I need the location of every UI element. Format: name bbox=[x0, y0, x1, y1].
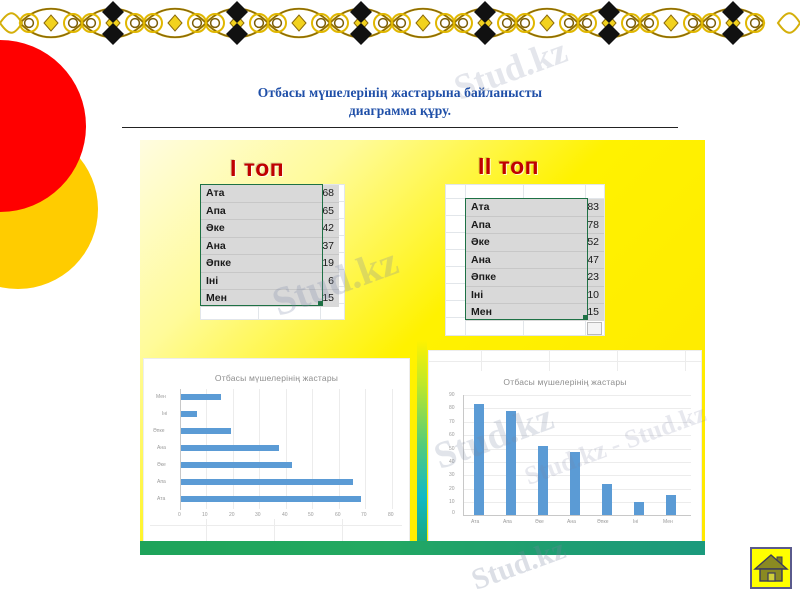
chart-1-gridline bbox=[392, 389, 393, 509]
chart-2-sheet-line bbox=[429, 361, 701, 362]
chart-1-gridline bbox=[365, 389, 366, 509]
table-row[interactable]: Әке 42 bbox=[201, 220, 339, 238]
cell-label[interactable]: Мен bbox=[201, 290, 267, 307]
chart-1-tick-label: 10 bbox=[202, 512, 208, 518]
table-row[interactable]: Ата 83 bbox=[466, 199, 604, 216]
chart-2-tick-label: 30 bbox=[449, 472, 455, 478]
chart-1-frame-line bbox=[274, 519, 275, 541]
chart-2-cat-label: Іні bbox=[633, 519, 638, 525]
cell-value[interactable]: 6 bbox=[267, 272, 339, 290]
table-row[interactable]: Іні 6 bbox=[201, 272, 339, 290]
cell-value[interactable]: 15 bbox=[267, 290, 339, 307]
chart-1-bar[interactable] bbox=[181, 496, 361, 502]
chart-2-bar[interactable] bbox=[538, 446, 548, 515]
cell-value[interactable]: 10 bbox=[532, 286, 604, 304]
cell-value[interactable]: 47 bbox=[532, 251, 604, 269]
cell-label[interactable]: Әпке bbox=[466, 269, 532, 287]
page-title-line-2: диаграмма құру. bbox=[120, 102, 680, 120]
chart-2-tick-label: 10 bbox=[449, 499, 455, 505]
gradient-divider-strip bbox=[417, 340, 427, 541]
table-row[interactable]: Іні 10 bbox=[466, 286, 604, 304]
chart-2-tick-label: 20 bbox=[449, 486, 455, 492]
table-row[interactable]: Ана 37 bbox=[201, 237, 339, 255]
chart-1-cat-label: Ана bbox=[157, 445, 166, 451]
chart-1-tick-label: 80 bbox=[388, 512, 394, 518]
chart-2-cat-label: Ана bbox=[567, 519, 576, 525]
page-title-line-1: Отбасы мүшелерінің жастарына байланысты bbox=[120, 84, 680, 102]
table-row[interactable]: Ана 47 bbox=[466, 251, 604, 269]
chart-1-tick-label: 60 bbox=[335, 512, 341, 518]
cell-value[interactable]: 68 bbox=[267, 185, 339, 202]
chart-2-sheet-line bbox=[549, 351, 550, 371]
chart-1-frame-line bbox=[206, 519, 207, 541]
chart-1-cat-label: Әке bbox=[157, 462, 166, 468]
selection-handle-2[interactable] bbox=[583, 315, 588, 320]
table-row[interactable]: Апа 78 bbox=[466, 216, 604, 234]
chart-2-bar[interactable] bbox=[634, 502, 644, 515]
chart-2-bar[interactable] bbox=[570, 452, 580, 515]
chart-2-gridline bbox=[463, 435, 691, 436]
selection-handle-1[interactable] bbox=[318, 301, 323, 306]
chart-2-tick-label: 90 bbox=[449, 392, 455, 398]
chart-2-sheet-line bbox=[617, 351, 618, 371]
chart-2-gridline bbox=[463, 449, 691, 450]
cell-label[interactable]: Ана bbox=[466, 251, 532, 269]
chart-2-tick-label: 80 bbox=[449, 405, 455, 411]
quick-analysis-button[interactable] bbox=[587, 322, 602, 335]
table-row[interactable]: Апа 65 bbox=[201, 202, 339, 220]
chart-2-cat-label: Апа bbox=[503, 519, 512, 525]
cell-value[interactable]: 83 bbox=[532, 199, 604, 216]
slide-content-panel: I топ II топ Ата 68 А bbox=[140, 140, 705, 555]
chart-1-tick-label: 50 bbox=[308, 512, 314, 518]
cell-value[interactable]: 23 bbox=[532, 269, 604, 287]
cell-value[interactable]: 19 bbox=[267, 255, 339, 273]
table-row[interactable]: Ата 68 bbox=[201, 185, 339, 202]
chart-1-cat-label: Апа bbox=[157, 479, 166, 485]
chart-2-cat-label: Ата bbox=[471, 519, 479, 525]
chart-2-tick-label: 60 bbox=[449, 432, 455, 438]
chart-2-tick-label: 50 bbox=[449, 446, 455, 452]
group-2-heading: II топ bbox=[478, 153, 539, 180]
table-group-1[interactable]: Ата 68 Апа 65 Әке 42 Ана 37 Әпке 19 bbox=[201, 185, 339, 307]
chart-2-gridline bbox=[463, 408, 691, 409]
chart-1-bar[interactable] bbox=[181, 428, 231, 434]
cell-label[interactable]: Әпке bbox=[201, 255, 267, 273]
chart-2-title: Отбасы мүшелерінің жастары bbox=[429, 377, 701, 387]
chart-1-bar[interactable] bbox=[181, 445, 279, 451]
slide-bottom-green-strip bbox=[140, 541, 705, 555]
chart-2-cat-label: Әпке bbox=[597, 519, 609, 525]
spreadsheet-group-1: Ата 68 Апа 65 Әке 42 Ана 37 Әпке 19 bbox=[200, 184, 345, 320]
title-divider-rule bbox=[122, 127, 678, 128]
chart-2-cat-label: Әке bbox=[535, 519, 544, 525]
ornamental-top-border bbox=[0, 0, 800, 47]
chart-2-sheet-line bbox=[481, 351, 482, 371]
chart-2-tick-label: 40 bbox=[449, 459, 455, 465]
table-body-1: Ата 68 Апа 65 Әке 42 Ана 37 Әпке 19 bbox=[201, 185, 339, 307]
cell-label[interactable]: Әке bbox=[201, 220, 267, 238]
cell-label[interactable]: Әке bbox=[466, 234, 532, 252]
table-group-2[interactable]: Ата 83 Апа 78 Әке 52 Ана 47 Әпке 23 bbox=[466, 199, 604, 321]
chart-1-gridline bbox=[286, 389, 287, 509]
chart-2-bar[interactable] bbox=[474, 404, 484, 515]
chart-1-gridline bbox=[312, 389, 313, 509]
chart-1-bar[interactable] bbox=[181, 394, 221, 400]
chart-2-tick-label: 70 bbox=[449, 419, 455, 425]
chart-2-gridline bbox=[463, 395, 691, 396]
cell-label[interactable]: Апа bbox=[201, 202, 267, 220]
chart-2-bar[interactable] bbox=[506, 411, 516, 515]
chart-1-cat-label: Іні bbox=[162, 411, 167, 417]
cell-label[interactable]: Ана bbox=[201, 237, 267, 255]
chart-1-cat-label: Ата bbox=[157, 496, 165, 502]
chart-1-cat-label: Әпке bbox=[153, 428, 165, 434]
cell-label[interactable]: Апа bbox=[466, 216, 532, 234]
table-row[interactable]: Әпке 23 bbox=[466, 269, 604, 287]
cell-label[interactable]: Ата bbox=[466, 199, 532, 216]
chart-1-frame-line bbox=[342, 519, 343, 541]
home-icon bbox=[752, 549, 790, 587]
cell-label[interactable]: Ата bbox=[201, 185, 267, 202]
cell-value[interactable]: 42 bbox=[267, 220, 339, 238]
chart-1-title: Отбасы мүшелерінің жастары bbox=[144, 373, 409, 383]
chart-1-bar[interactable] bbox=[181, 479, 353, 485]
cell-label[interactable]: Іні bbox=[201, 272, 267, 290]
spreadsheet-group-2: Ата 83 Апа 78 Әке 52 Ана 47 Әпке 23 bbox=[445, 184, 605, 336]
chart-1-tick-label: 30 bbox=[255, 512, 261, 518]
table-row[interactable]: Әке 52 bbox=[466, 234, 604, 252]
chart-1-gridline bbox=[339, 389, 340, 509]
cell-label[interactable]: Мен bbox=[466, 304, 532, 321]
chart-2-cat-label: Мен bbox=[663, 519, 673, 525]
cell-value[interactable]: 15 bbox=[532, 304, 604, 321]
chart-2-tick-label: 0 bbox=[452, 510, 455, 516]
chart-2-bar[interactable] bbox=[602, 484, 612, 515]
chart-1-cat-label: Мен bbox=[156, 394, 166, 400]
table-row[interactable]: Әпке 19 bbox=[201, 255, 339, 273]
chart-1-tick-label: 40 bbox=[282, 512, 288, 518]
chart-1-frame-line bbox=[150, 525, 402, 526]
chart-2-value-axis bbox=[463, 395, 464, 516]
chart-1-tick-label: 0 bbox=[178, 512, 181, 518]
chart-horizontal-bar[interactable]: Отбасы мүшелерінің жастары Мен Іні Әпке … bbox=[143, 358, 410, 542]
chart-2-bar[interactable] bbox=[666, 495, 676, 515]
chart-1-bar[interactable] bbox=[181, 411, 197, 417]
cell-value[interactable]: 52 bbox=[532, 234, 604, 252]
cell-value[interactable]: 78 bbox=[532, 216, 604, 234]
cell-label[interactable]: Іні bbox=[466, 286, 532, 304]
page-title: Отбасы мүшелерінің жастарына байланысты … bbox=[120, 84, 680, 120]
chart-1-bar[interactable] bbox=[181, 462, 292, 468]
chart-1-tick-label: 70 bbox=[361, 512, 367, 518]
chart-2-gridline bbox=[463, 422, 691, 423]
table-body-2: Ата 83 Апа 78 Әке 52 Ана 47 Әпке 23 bbox=[466, 199, 604, 321]
chart-1-tick-label: 20 bbox=[229, 512, 235, 518]
chart-vertical-bar[interactable]: Отбасы мүшелерінің жастары 90 80 70 60 5… bbox=[428, 350, 702, 542]
home-button[interactable] bbox=[750, 547, 792, 589]
cell-value[interactable]: 37 bbox=[267, 237, 339, 255]
cell-value[interactable]: 65 bbox=[267, 202, 339, 220]
chart-2-category-axis bbox=[463, 515, 691, 516]
group-1-heading: I топ bbox=[230, 155, 284, 182]
chart-2-sheet-line bbox=[685, 351, 686, 371]
